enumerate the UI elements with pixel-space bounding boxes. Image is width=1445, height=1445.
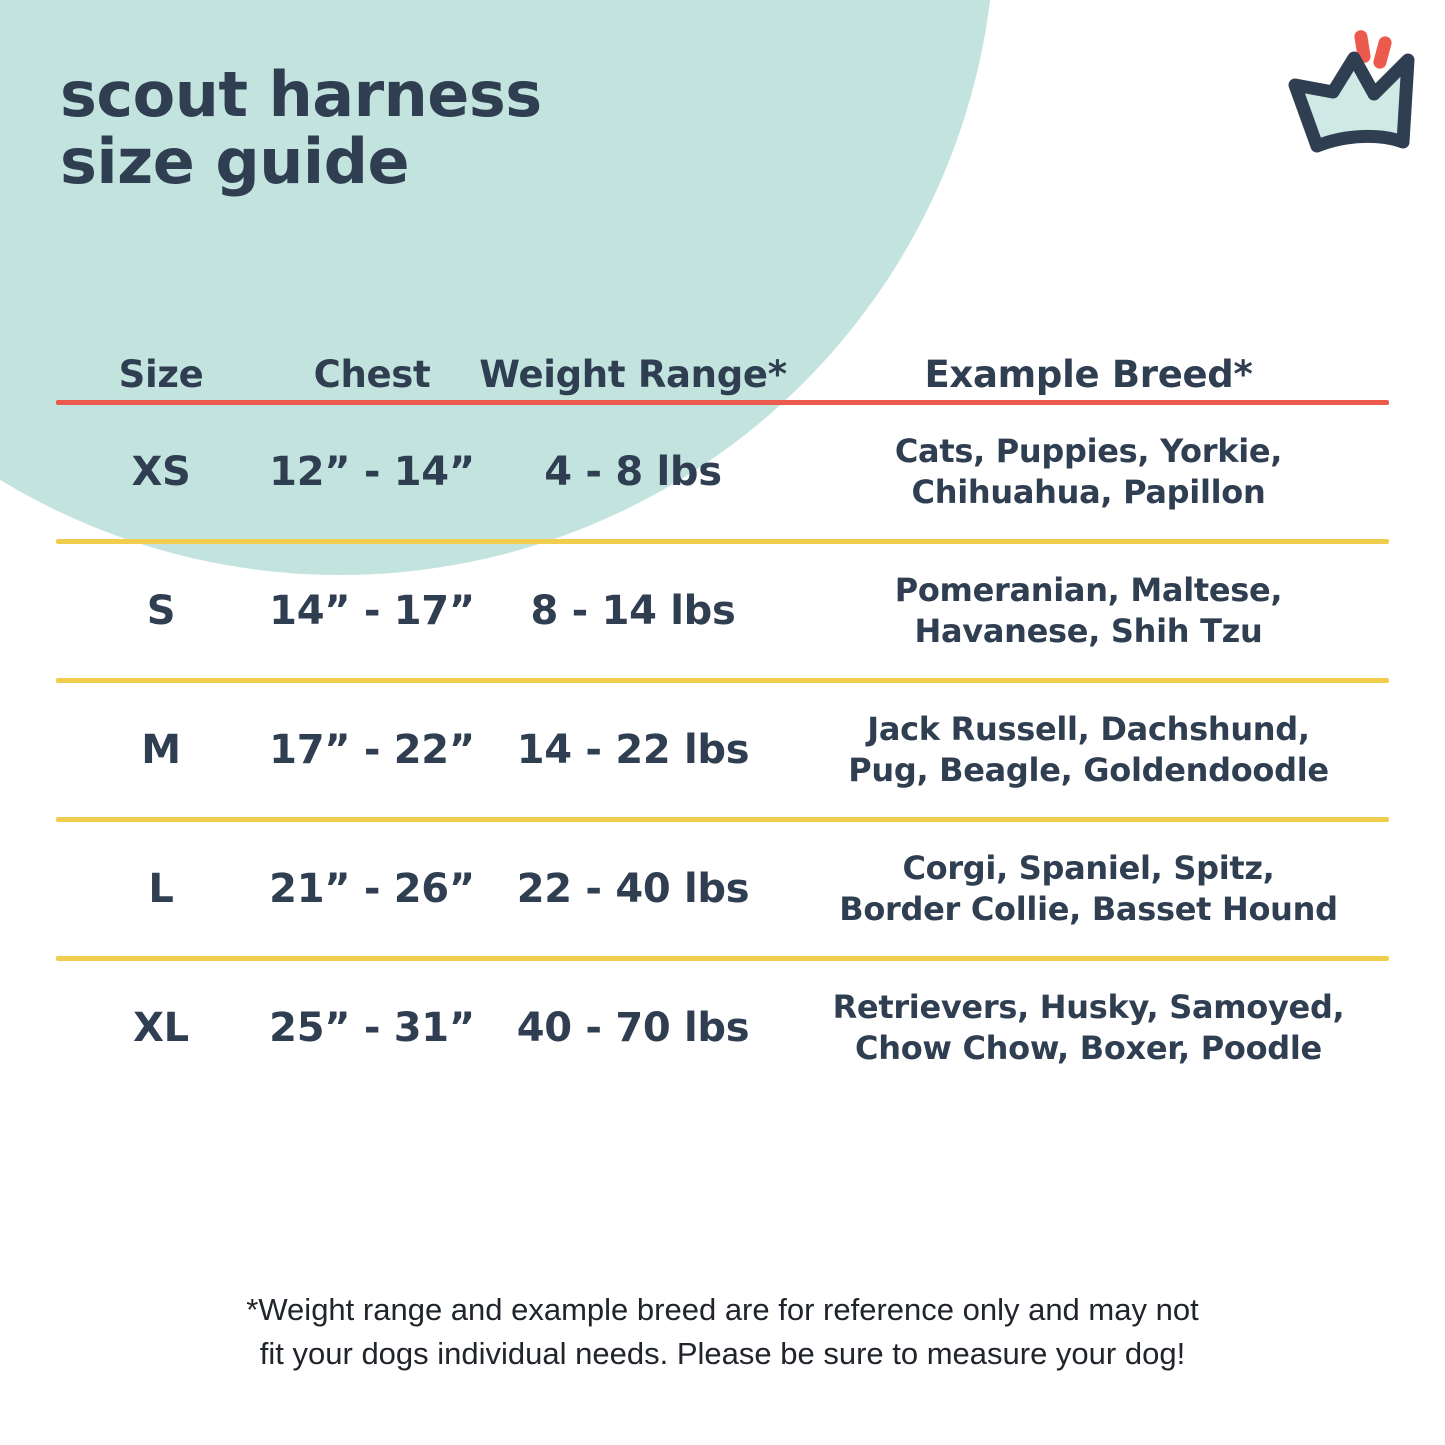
- cell-breed: Jack Russell, Dachshund, Pug, Beagle, Go…: [788, 709, 1389, 791]
- size-table: Size Chest Weight Range* Example Breed* …: [56, 312, 1389, 1095]
- header-breed: Example Breed*: [788, 353, 1389, 396]
- cell-breed-line-2: Pug, Beagle, Goldendoodle: [788, 750, 1389, 791]
- cell-breed-line-1: Cats, Puppies, Yorkie,: [788, 431, 1389, 472]
- title-line-1: scout harness: [60, 62, 542, 129]
- header-size: Size: [56, 353, 266, 396]
- size-guide-page: scout harness size guide Size Chest Weig…: [0, 0, 1445, 1445]
- cell-breed-line-2: Chihuahua, Papillon: [788, 472, 1389, 513]
- cell-weight: 14 - 22 lbs: [478, 727, 788, 773]
- title-line-2: size guide: [60, 129, 542, 196]
- cell-chest: 21” - 26”: [266, 866, 478, 912]
- footnote-line-1: *Weight range and example breed are for …: [118, 1288, 1328, 1332]
- cell-weight: 22 - 40 lbs: [478, 866, 788, 912]
- cell-breed-line-1: Pomeranian, Maltese,: [788, 570, 1389, 611]
- table-row: L 21” - 26” 22 - 40 lbs Corgi, Spaniel, …: [56, 822, 1389, 956]
- table-row: XS 12” - 14” 4 - 8 lbs Cats, Puppies, Yo…: [56, 405, 1389, 539]
- cell-size: S: [56, 588, 266, 634]
- cell-weight: 40 - 70 lbs: [478, 1005, 788, 1051]
- cell-breed-line-2: Border Collie, Basset Hound: [788, 889, 1389, 930]
- page-title: scout harness size guide: [60, 62, 542, 196]
- cell-chest: 12” - 14”: [266, 449, 478, 495]
- table-row: M 17” - 22” 14 - 22 lbs Jack Russell, Da…: [56, 683, 1389, 817]
- cell-breed: Retrievers, Husky, Samoyed, Chow Chow, B…: [788, 987, 1389, 1069]
- cell-weight: 8 - 14 lbs: [478, 588, 788, 634]
- cell-size: XL: [56, 1005, 266, 1051]
- cell-size: XS: [56, 449, 266, 495]
- crown-icon: [1277, 22, 1417, 167]
- cell-breed-line-2: Havanese, Shih Tzu: [788, 611, 1389, 652]
- cell-chest: 17” - 22”: [266, 727, 478, 773]
- cell-breed-line-1: Corgi, Spaniel, Spitz,: [788, 848, 1389, 889]
- cell-breed: Cats, Puppies, Yorkie, Chihuahua, Papill…: [788, 431, 1389, 513]
- cell-breed: Corgi, Spaniel, Spitz, Border Collie, Ba…: [788, 848, 1389, 930]
- cell-breed: Pomeranian, Maltese, Havanese, Shih Tzu: [788, 570, 1389, 652]
- cell-chest: 14” - 17”: [266, 588, 478, 634]
- header-weight: Weight Range*: [478, 353, 788, 396]
- table-row: XL 25” - 31” 40 - 70 lbs Retrievers, Hus…: [56, 961, 1389, 1095]
- table-header-row: Size Chest Weight Range* Example Breed*: [56, 312, 1389, 400]
- cell-size: M: [56, 727, 266, 773]
- footnote-line-2: fit your dogs individual needs. Please b…: [118, 1332, 1328, 1376]
- cell-breed-line-2: Chow Chow, Boxer, Poodle: [788, 1028, 1389, 1069]
- footnote: *Weight range and example breed are for …: [118, 1288, 1328, 1376]
- header-chest: Chest: [266, 353, 478, 396]
- cell-chest: 25” - 31”: [266, 1005, 478, 1051]
- table-row: S 14” - 17” 8 - 14 lbs Pomeranian, Malte…: [56, 544, 1389, 678]
- cell-weight: 4 - 8 lbs: [478, 449, 788, 495]
- cell-size: L: [56, 866, 266, 912]
- cell-breed-line-1: Jack Russell, Dachshund,: [788, 709, 1389, 750]
- cell-breed-line-1: Retrievers, Husky, Samoyed,: [788, 987, 1389, 1028]
